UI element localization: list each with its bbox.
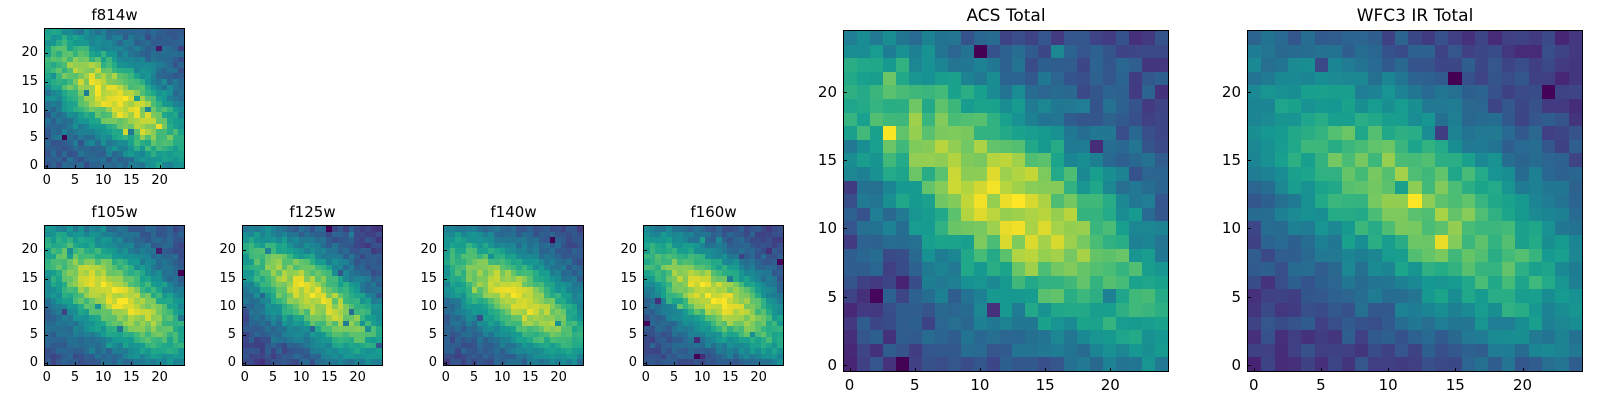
y-tick-f140w-20 bbox=[443, 250, 447, 251]
x-tick-f105w-10 bbox=[103, 362, 104, 366]
x-tick-wfc3_ir_total-10 bbox=[1388, 368, 1389, 372]
heatmap-f814w bbox=[44, 28, 185, 169]
panel-title-f814w: f814w bbox=[44, 6, 185, 25]
y-tick-label-acs_total-10: 10 bbox=[795, 219, 837, 237]
panel-f125w: f125w0055101015152020 bbox=[0, 0, 1600, 400]
y-tick-f160w-0 bbox=[643, 363, 647, 364]
x-tick-label-f105w-20: 20 bbox=[140, 370, 180, 386]
x-tick-label-acs_total-20: 20 bbox=[1090, 376, 1130, 394]
x-tick-f125w-10 bbox=[301, 362, 302, 366]
y-tick-label-f160w-5: 5 bbox=[595, 327, 637, 343]
y-tick-label-f105w-15: 15 bbox=[0, 271, 38, 287]
y-tick-label-f140w-5: 5 bbox=[395, 327, 437, 343]
x-tick-f160w-0 bbox=[646, 362, 647, 366]
y-tick-label-f160w-15: 15 bbox=[595, 271, 637, 287]
heatmap-cells-f814w bbox=[45, 29, 184, 168]
heatmap-cells-acs_total bbox=[844, 31, 1168, 371]
y-tick-label-f125w-10: 10 bbox=[194, 299, 236, 315]
y-tick-f160w-10 bbox=[643, 307, 647, 308]
y-tick-label-f814w-5: 5 bbox=[0, 130, 38, 146]
panel-title-f140w: f140w bbox=[443, 203, 584, 222]
y-tick-f814w-20 bbox=[44, 53, 48, 54]
y-tick-label-f140w-10: 10 bbox=[395, 299, 437, 315]
y-tick-f814w-0 bbox=[44, 166, 48, 167]
panel-title-f125w: f125w bbox=[242, 203, 383, 222]
x-tick-label-f160w-15: 15 bbox=[710, 370, 750, 386]
heatmap-cells-f140w bbox=[444, 226, 583, 365]
x-tick-acs_total-10 bbox=[980, 368, 981, 372]
x-tick-label-f160w-0: 0 bbox=[626, 370, 666, 386]
y-tick-acs_total-5 bbox=[843, 297, 847, 298]
heatmap-acs_total bbox=[843, 30, 1169, 372]
x-tick-label-f160w-10: 10 bbox=[682, 370, 722, 386]
panel-f140w: f140w0055101015152020 bbox=[0, 0, 1600, 400]
heatmap-f140w bbox=[443, 225, 584, 366]
y-tick-label-f125w-0: 0 bbox=[194, 355, 236, 371]
y-tick-f160w-15 bbox=[643, 279, 647, 280]
x-tick-label-f140w-5: 5 bbox=[454, 370, 494, 386]
y-tick-label-f814w-0: 0 bbox=[0, 158, 38, 174]
x-tick-f814w-10 bbox=[103, 165, 104, 169]
y-tick-label-f160w-20: 20 bbox=[595, 242, 637, 258]
x-tick-label-f125w-5: 5 bbox=[253, 370, 293, 386]
x-tick-label-f125w-0: 0 bbox=[225, 370, 265, 386]
y-tick-f140w-15 bbox=[443, 279, 447, 280]
x-tick-label-f125w-20: 20 bbox=[338, 370, 378, 386]
y-tick-f125w-20 bbox=[242, 250, 246, 251]
x-tick-f160w-10 bbox=[702, 362, 703, 366]
y-tick-acs_total-0 bbox=[843, 365, 847, 366]
y-tick-wfc3_ir_total-0 bbox=[1247, 365, 1251, 366]
x-tick-label-f814w-10: 10 bbox=[83, 173, 123, 189]
y-tick-label-f814w-10: 10 bbox=[0, 102, 38, 118]
x-tick-label-f105w-10: 10 bbox=[83, 370, 123, 386]
y-tick-wfc3_ir_total-15 bbox=[1247, 160, 1251, 161]
x-tick-f160w-5 bbox=[674, 362, 675, 366]
x-tick-f160w-15 bbox=[730, 362, 731, 366]
y-tick-label-wfc3_ir_total-0: 0 bbox=[1199, 356, 1241, 374]
x-tick-f140w-5 bbox=[474, 362, 475, 366]
x-tick-label-wfc3_ir_total-15: 15 bbox=[1435, 376, 1475, 394]
y-tick-wfc3_ir_total-5 bbox=[1247, 297, 1251, 298]
x-tick-label-f105w-0: 0 bbox=[27, 370, 67, 386]
x-tick-label-acs_total-10: 10 bbox=[960, 376, 1000, 394]
x-tick-label-acs_total-0: 0 bbox=[830, 376, 870, 394]
y-tick-label-f105w-20: 20 bbox=[0, 242, 38, 258]
x-tick-label-f105w-5: 5 bbox=[55, 370, 95, 386]
x-tick-wfc3_ir_total-5 bbox=[1321, 368, 1322, 372]
heatmap-f160w bbox=[643, 225, 784, 366]
y-tick-f125w-15 bbox=[242, 279, 246, 280]
y-tick-f105w-5 bbox=[44, 335, 48, 336]
panel-f105w: f105w0055101015152020 bbox=[0, 0, 1600, 400]
x-tick-label-f140w-0: 0 bbox=[426, 370, 466, 386]
panel-title-f105w: f105w bbox=[44, 203, 185, 222]
y-tick-f140w-5 bbox=[443, 335, 447, 336]
y-tick-label-acs_total-5: 5 bbox=[795, 288, 837, 306]
x-tick-f105w-20 bbox=[160, 362, 161, 366]
x-tick-f105w-15 bbox=[131, 362, 132, 366]
y-tick-wfc3_ir_total-10 bbox=[1247, 228, 1251, 229]
heatmap-f105w bbox=[44, 225, 185, 366]
y-tick-f125w-10 bbox=[242, 307, 246, 308]
y-tick-label-f140w-15: 15 bbox=[395, 271, 437, 287]
y-tick-label-acs_total-15: 15 bbox=[795, 151, 837, 169]
y-tick-f814w-10 bbox=[44, 110, 48, 111]
x-tick-label-f125w-10: 10 bbox=[281, 370, 321, 386]
x-tick-acs_total-20 bbox=[1110, 368, 1111, 372]
x-tick-f140w-0 bbox=[446, 362, 447, 366]
y-tick-label-f160w-0: 0 bbox=[595, 355, 637, 371]
x-tick-label-f125w-15: 15 bbox=[309, 370, 349, 386]
y-tick-label-f125w-20: 20 bbox=[194, 242, 236, 258]
y-tick-label-f125w-5: 5 bbox=[194, 327, 236, 343]
heatmap-f125w bbox=[242, 225, 383, 366]
y-tick-acs_total-10 bbox=[843, 228, 847, 229]
x-tick-label-f160w-20: 20 bbox=[739, 370, 779, 386]
panel-wfc3_ir_total: WFC3 IR Total0055101015152020 bbox=[0, 0, 1600, 400]
x-tick-label-f814w-15: 15 bbox=[111, 173, 151, 189]
heatmap-wfc3_ir_total bbox=[1247, 30, 1583, 372]
x-tick-label-f160w-5: 5 bbox=[654, 370, 694, 386]
panel-f814w: f814w0055101015152020 bbox=[0, 0, 1600, 400]
x-tick-f140w-15 bbox=[530, 362, 531, 366]
y-tick-f105w-15 bbox=[44, 279, 48, 280]
heatmap-cells-f160w bbox=[644, 226, 783, 365]
x-tick-wfc3_ir_total-0 bbox=[1254, 368, 1255, 372]
x-tick-label-wfc3_ir_total-5: 5 bbox=[1301, 376, 1341, 394]
y-tick-f140w-10 bbox=[443, 307, 447, 308]
x-tick-f125w-20 bbox=[358, 362, 359, 366]
y-tick-f140w-0 bbox=[443, 363, 447, 364]
y-tick-label-f105w-10: 10 bbox=[0, 299, 38, 315]
x-tick-f125w-0 bbox=[245, 362, 246, 366]
x-tick-label-f814w-20: 20 bbox=[140, 173, 180, 189]
y-tick-f125w-0 bbox=[242, 363, 246, 364]
x-tick-wfc3_ir_total-15 bbox=[1455, 368, 1456, 372]
y-tick-f125w-5 bbox=[242, 335, 246, 336]
x-tick-wfc3_ir_total-20 bbox=[1523, 368, 1524, 372]
x-tick-label-f140w-10: 10 bbox=[482, 370, 522, 386]
y-tick-label-acs_total-0: 0 bbox=[795, 356, 837, 374]
x-tick-acs_total-15 bbox=[1045, 368, 1046, 372]
x-tick-label-f105w-15: 15 bbox=[111, 370, 151, 386]
y-tick-f160w-20 bbox=[643, 250, 647, 251]
y-tick-f105w-10 bbox=[44, 307, 48, 308]
x-tick-label-wfc3_ir_total-10: 10 bbox=[1368, 376, 1408, 394]
y-tick-label-f105w-5: 5 bbox=[0, 327, 38, 343]
y-tick-acs_total-15 bbox=[843, 160, 847, 161]
x-tick-label-f814w-0: 0 bbox=[27, 173, 67, 189]
panel-acs_total: ACS Total0055101015152020 bbox=[0, 0, 1600, 400]
x-tick-label-f140w-20: 20 bbox=[539, 370, 579, 386]
y-tick-label-f814w-15: 15 bbox=[0, 74, 38, 90]
x-tick-f140w-20 bbox=[559, 362, 560, 366]
x-tick-label-wfc3_ir_total-20: 20 bbox=[1503, 376, 1543, 394]
x-tick-f125w-5 bbox=[273, 362, 274, 366]
x-tick-label-f140w-15: 15 bbox=[510, 370, 550, 386]
x-tick-f125w-15 bbox=[329, 362, 330, 366]
x-tick-acs_total-5 bbox=[915, 368, 916, 372]
x-tick-f814w-5 bbox=[75, 165, 76, 169]
panel-title-acs_total: ACS Total bbox=[843, 6, 1169, 27]
y-tick-label-f125w-15: 15 bbox=[194, 271, 236, 287]
x-tick-label-acs_total-15: 15 bbox=[1025, 376, 1065, 394]
y-tick-label-f160w-10: 10 bbox=[595, 299, 637, 315]
y-tick-wfc3_ir_total-20 bbox=[1247, 92, 1251, 93]
x-tick-f814w-20 bbox=[160, 165, 161, 169]
x-tick-f105w-5 bbox=[75, 362, 76, 366]
y-tick-f160w-5 bbox=[643, 335, 647, 336]
heatmap-cells-f125w bbox=[243, 226, 382, 365]
y-tick-label-f140w-0: 0 bbox=[395, 355, 437, 371]
y-tick-f105w-20 bbox=[44, 250, 48, 251]
y-tick-f814w-5 bbox=[44, 138, 48, 139]
y-tick-label-f140w-20: 20 bbox=[395, 242, 437, 258]
x-tick-f814w-0 bbox=[47, 165, 48, 169]
y-tick-label-wfc3_ir_total-15: 15 bbox=[1199, 151, 1241, 169]
y-tick-label-acs_total-20: 20 bbox=[795, 83, 837, 101]
x-tick-f814w-15 bbox=[131, 165, 132, 169]
x-tick-label-acs_total-5: 5 bbox=[895, 376, 935, 394]
panel-f160w: f160w0055101015152020 bbox=[0, 0, 1600, 400]
y-tick-label-wfc3_ir_total-20: 20 bbox=[1199, 83, 1241, 101]
panel-title-f160w: f160w bbox=[643, 203, 784, 222]
heatmap-cells-wfc3_ir_total bbox=[1248, 31, 1582, 371]
y-tick-acs_total-20 bbox=[843, 92, 847, 93]
x-tick-f160w-20 bbox=[759, 362, 760, 366]
heatmap-cells-f105w bbox=[45, 226, 184, 365]
y-tick-label-f105w-0: 0 bbox=[0, 355, 38, 371]
y-tick-f814w-15 bbox=[44, 82, 48, 83]
y-tick-label-f814w-20: 20 bbox=[0, 45, 38, 61]
x-tick-label-wfc3_ir_total-0: 0 bbox=[1234, 376, 1274, 394]
x-tick-f140w-10 bbox=[502, 362, 503, 366]
x-tick-label-f814w-5: 5 bbox=[55, 173, 95, 189]
y-tick-label-wfc3_ir_total-5: 5 bbox=[1199, 288, 1241, 306]
panel-title-wfc3_ir_total: WFC3 IR Total bbox=[1247, 6, 1583, 27]
y-tick-f105w-0 bbox=[44, 363, 48, 364]
x-tick-acs_total-0 bbox=[850, 368, 851, 372]
x-tick-f105w-0 bbox=[47, 362, 48, 366]
y-tick-label-wfc3_ir_total-10: 10 bbox=[1199, 219, 1241, 237]
